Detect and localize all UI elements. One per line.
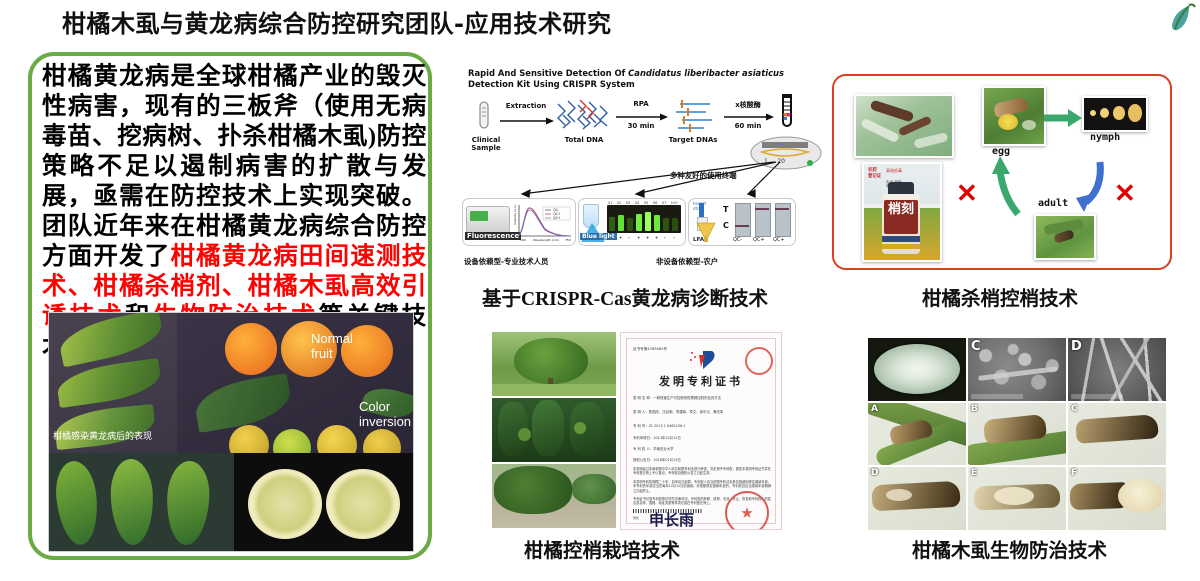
test-tube-icon [476,100,492,139]
hlb-label-normal-fruit: Normal fruit [311,331,353,361]
crispr-arrow-3-bottom: 60 min [722,122,774,130]
crispr-step-2-label: Total DNA [556,136,612,144]
hlb-leaves-top-left: 柑橘感染黄龙病后的表现 [49,313,177,453]
certificate-row-6: 授权公告日：2016年01月13日 [633,457,773,462]
arrow-icon [500,116,554,126]
certificate-row-1: 发 明 名 称：一种快速生产可控梢的柑橘梢控制剂及其方法 [633,395,773,400]
caption-orchard: 柑橘控梢栽培技术 [524,534,680,563]
svg-text:+: + [646,235,649,240]
hlb-label-color-inversion: Color inversion [359,399,413,429]
hlb-cn-label: 柑橘感染黄龙病后的表现 [53,429,152,442]
svg-text:-: - [673,235,675,240]
lfa-strip-panel: Insertstrip LFA T C QC- QC+ QC+ [688,198,796,246]
micro-cell-psyllid-f: F [1068,467,1166,530]
micro-scalebar-1 [971,394,1023,399]
svg-text:S2: S2 [617,201,621,205]
intro-separator-1: 、 [68,273,94,300]
psyllid-life-cycle-panel: 农药登记证 高效低毒 乳油 杀梢制剂 专用 梢刻 egg nymph [832,74,1172,270]
citrus-shoot-photo [854,94,954,158]
lfa-strip-1-label: QC- [733,237,742,243]
certificate-number: 证书号第4789465号 [633,347,667,352]
certificate-seal-bottom [725,491,769,530]
intro-separator-2: 、 [222,273,248,300]
arrow-egg-to-nymph-icon [1042,106,1082,130]
biocontrol-microscopy-grid: C D A B C D [868,338,1166,530]
micro-label-e: E [971,468,977,478]
micro-label-d-bot: D [871,468,878,478]
dna-bands-icon [672,98,716,139]
crispr-diagram-title: Rapid And Sensitive Detection Of Candida… [468,68,788,90]
lfa-label: LFA [693,237,704,243]
micro-cell-psyllid-d: D [868,467,966,530]
pesticide-bottle-photo: 农药登记证 高效低毒 乳油 杀梢制剂 专用 梢刻 [862,162,942,262]
certificate-row-5: 专 利 权 人：华南农业大学 [633,446,773,451]
svg-text:S4: S4 [635,201,639,205]
cnipa-logo-icon [687,347,717,371]
svg-text:+: + [655,235,658,240]
crispr-arrow-3-top: x核酸酶 [722,100,774,110]
crispr-step-1-label: ClinicalSample [464,136,508,152]
blue-light-panel: Blue light S1S2S3 S4S5S6 S7H₂O [578,198,686,246]
caption-crispr: 基于CRISPR-Cas黄龙病诊断技术 [482,282,768,311]
lfa-strip-2-label: QC+ [753,237,765,243]
crispr-detection-diagram: Rapid And Sensitive Detection Of Candida… [458,58,796,273]
crispr-arrow-1-label: Extraction [498,102,554,110]
micro-label-c-mid: C [1071,404,1078,414]
crispr-step-3-label: Target DNAs [664,136,722,144]
fluorescence-panel: Fluorescence QC- QC+ QC+ 500 Wavelength … [462,198,576,246]
certificate-sign-label: 局长 [633,516,639,520]
svg-text:S1: S1 [608,201,612,205]
micro-label-d-top: D [1071,339,1082,354]
svg-text:+: + [619,235,622,240]
micro-label-c-top: C [971,339,981,354]
blocked-mark-left: ✕ [956,180,978,206]
stage-label-nymph: nymph [1090,132,1120,143]
nymph-stage-photo [1082,96,1148,132]
svg-text:S5: S5 [644,201,648,205]
dna-strands-icon [556,98,612,137]
svg-text:Intensity (a.u.): Intensity (a.u.) [513,204,517,225]
certificate-seal-top [745,347,773,375]
micro-cell-psyllid-b: B [968,403,1066,466]
svg-text:-: - [628,235,630,240]
svg-text:S3: S3 [626,201,630,205]
invention-patent-certificate: 证书号第4789465号 发明专利证书 发 明 名 称：一种快速生产可控梢的柑橘… [620,332,782,530]
hlb-fruits-top-right: Normal fruit Color inversion [177,313,413,453]
egg-stage-photo [982,86,1046,146]
micro-cell-psyllid-e: E [968,467,1066,530]
micro-cell-sem-spores: C [968,338,1066,401]
certificate-row-3: 专 利 号：ZL 2013 1 0465236.1 [633,423,773,428]
lfa-strip-3-label: QC+ [773,237,785,243]
certificate-title: 发明专利证书 [621,373,781,389]
orchard-photo-3 [492,464,616,528]
micro-scalebar-2 [1071,394,1123,399]
intro-segment-1: 柑橘黄龙病是全球柑橘产业的毁灭性病害，现有的三板斧（使用无病毒苗、挖病树、扑杀柑… [42,63,426,270]
lfa-band-t-label: T [723,205,728,214]
certificate-signature: 申长雨 [649,509,694,530]
arrow-icon [616,112,668,122]
micro-label-a: A [871,404,878,414]
svg-text:+: + [637,235,640,240]
crispr-foot-right: 非设备依赖型-农户 [656,256,718,267]
svg-text:S7: S7 [662,201,666,205]
svg-text:-: - [610,235,612,240]
micro-cell-psyllid-c: C [1068,403,1166,466]
micro-label-b: B [971,404,978,414]
crispr-foot-left: 设备依赖型-专业技术人员 [464,256,548,267]
certificate-row-4: 专利申请日：2013年10月12日 [633,435,773,440]
citrus-hlb-symptom-photo: 柑橘感染黄龙病后的表现 Normal fruit Color inversion [48,312,414,552]
lfa-band-c-label: C [723,221,729,230]
stage-label-adult: adult [1038,198,1068,209]
intro-highlight-2: 柑橘杀梢剂 [93,273,221,300]
orchard-photo-column [492,332,616,528]
hlb-leaves-bottom-left [49,453,234,551]
certificate-body-1: 本发明经过本局依照中华人民共和国专利法进行审查，决定授予专利权，颁发本发明专利证… [633,467,771,476]
micro-label-f: F [1071,468,1077,478]
caption-micro: 柑橘木虱生物防治技术 [912,534,1107,563]
hlb-cut-fruit-bottom-right [234,453,413,551]
micro-cell-sem-hyphae: D [1068,338,1166,401]
svg-text:S6: S6 [653,201,657,205]
crispr-readout-panels: Fluorescence QC- QC+ QC+ 500 Wavelength … [460,174,794,246]
svg-text:750: 750 [565,238,571,242]
arrow-icon [724,112,774,122]
micro-cell-petri-dish [868,338,966,401]
leaf-icon [1156,2,1196,36]
crispr-arrow-2-top: RPA [614,100,668,108]
svg-text:Wavelength (nm): Wavelength (nm) [533,238,559,242]
svg-text:-: - [664,235,666,240]
page-title: 柑橘木虱与黄龙病综合防控研究团队-应用技术研究 [62,4,611,39]
svg-text:H₂O: H₂O [671,201,678,205]
caption-lifecycle: 柑橘杀梢控梢技术 [922,282,1078,311]
crispr-arrow-2-bottom: 30 min [614,122,668,130]
arrow-nymph-to-adult-icon [1072,158,1112,218]
arrow-adult-to-egg-icon [982,154,1030,220]
orchard-photo-2 [492,398,616,462]
blocked-mark-right: ✕ [1114,180,1136,206]
micro-cell-psyllid-a: A [868,403,966,466]
pesticide-bottle-text: 梢刻 [886,202,916,232]
orchard-photo-1 [492,332,616,396]
adult-stage-photo [1034,214,1096,260]
svg-text:QC+: QC+ [553,216,561,220]
slide-root: 柑橘木虱与黄龙病综合防控研究团队-应用技术研究 柑橘黄龙病是全球柑橘产业的毁灭性… [0,0,1200,581]
svg-text:500: 500 [520,238,526,242]
certificate-row-2: 发 明 人：陈国庆、汪启明、李建辉、李文、吴中元、黄庆军 [633,409,773,414]
